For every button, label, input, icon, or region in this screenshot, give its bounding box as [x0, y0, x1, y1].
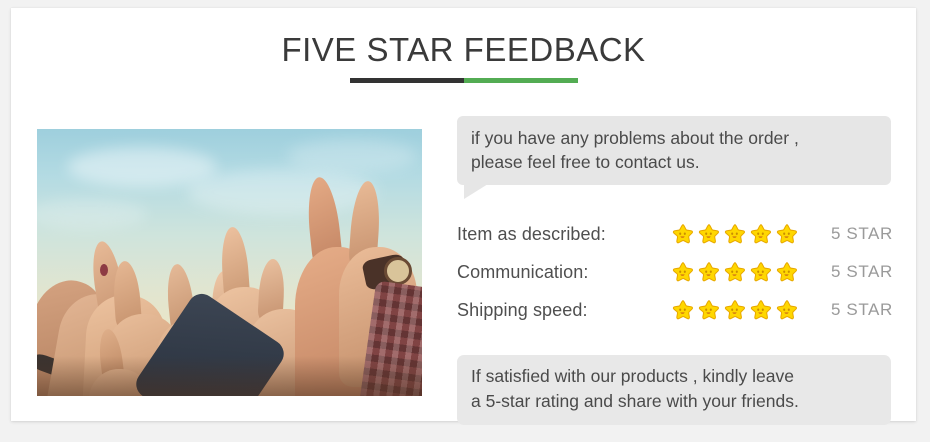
page-root: FIVE STAR FEEDBACK — [0, 0, 930, 442]
rating-value-item-as-described: 5 STAR — [801, 224, 893, 244]
underline-green-segment — [464, 78, 578, 83]
rating-value-communication: 5 STAR — [801, 262, 893, 282]
cloud-shape — [67, 147, 217, 187]
header: FIVE STAR FEEDBACK — [11, 30, 916, 70]
star-icon — [749, 299, 772, 322]
cloud-shape — [287, 139, 417, 173]
speech-bubble-tail — [464, 184, 488, 199]
photo-foreground-haze — [37, 356, 422, 396]
star-icon — [697, 223, 720, 246]
star-icon — [775, 299, 798, 322]
underline-dark-segment — [350, 78, 464, 83]
star-rating-shipping-speed — [671, 299, 801, 322]
rating-row: Shipping speed: 5 STAR — [457, 291, 893, 329]
nail-dot — [100, 264, 108, 276]
note-line-1: If satisfied with our products , kindly … — [471, 364, 877, 389]
star-icon — [749, 223, 772, 246]
thumbs-up-photo — [37, 129, 422, 396]
page-title: FIVE STAR FEEDBACK — [11, 30, 916, 70]
star-icon — [723, 223, 746, 246]
title-underline — [350, 78, 578, 83]
star-icon — [775, 261, 798, 284]
rating-value-shipping-speed: 5 STAR — [801, 300, 893, 320]
watch-face — [384, 257, 412, 285]
leave-rating-note: If satisfied with our products , kindly … — [457, 355, 891, 425]
contact-speech-bubble: if you have any problems about the order… — [457, 116, 891, 185]
star-icon — [671, 261, 694, 284]
star-icon — [723, 299, 746, 322]
star-icon — [671, 299, 694, 322]
cloud-shape — [37, 199, 147, 229]
note-line-2: a 5-star rating and share with your frie… — [471, 389, 877, 414]
star-icon — [775, 223, 798, 246]
rating-row: Communication: 5 STAR — [457, 253, 893, 291]
star-icon — [749, 261, 772, 284]
bubble-line-1: if you have any problems about the order… — [471, 126, 877, 150]
bubble-line-2: please feel free to contact us. — [471, 150, 877, 174]
rating-label-item-as-described: Item as described: — [457, 224, 671, 245]
feedback-details: if you have any problems about the order… — [457, 116, 893, 425]
rating-label-shipping-speed: Shipping speed: — [457, 300, 671, 321]
rating-row: Item as described: 5 STAR — [457, 215, 893, 253]
star-icon — [723, 261, 746, 284]
star-icon — [697, 299, 720, 322]
ratings-list: Item as described: 5 STAR Communication: — [457, 215, 893, 329]
cloud-shape — [187, 169, 377, 215]
rating-label-communication: Communication: — [457, 262, 671, 283]
star-icon — [697, 261, 720, 284]
star-icon — [671, 223, 694, 246]
star-rating-item-as-described — [671, 223, 801, 246]
star-rating-communication — [671, 261, 801, 284]
feedback-card: FIVE STAR FEEDBACK — [11, 8, 916, 421]
